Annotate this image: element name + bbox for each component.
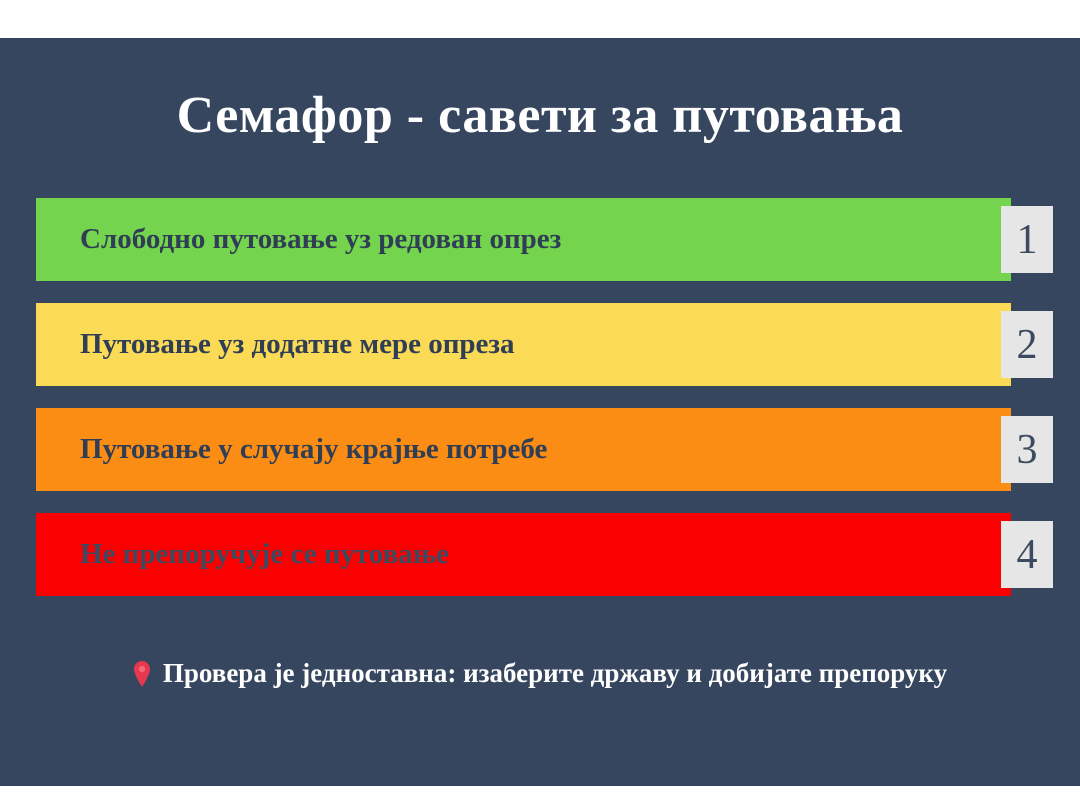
legend-number-badge-3: 3 xyxy=(1001,416,1053,483)
legend-bar-label: Путовање у случају крајње потребе xyxy=(36,433,547,466)
legend-bar-level-4: Не препоручује се путовање xyxy=(36,513,1011,596)
legend-row: Слободно путовање уз редован опрез 1 xyxy=(0,198,1080,281)
footer-text: Провера је једноставна: изаберите државу… xyxy=(163,658,947,689)
legend-bar-label: Путовање уз додатне мере опреза xyxy=(36,328,515,361)
legend-bar-label: Слободно путовање уз редован опрез xyxy=(36,223,561,256)
legend-bar-level-3: Путовање у случају крајње потребе xyxy=(36,408,1011,491)
slide-canvas: Семафор - савети за путовања Слободно пу… xyxy=(0,38,1080,786)
legend-number-badge-1: 1 xyxy=(1001,206,1053,273)
map-pin-icon xyxy=(133,661,151,687)
legend-row: Путовање у случају крајње потребе 3 xyxy=(0,408,1080,491)
legend-row: Не препоручује се путовање 4 xyxy=(0,513,1080,596)
legend-number-badge-2: 2 xyxy=(1001,311,1053,378)
legend-bar-level-1: Слободно путовање уз редован опрез xyxy=(36,198,1011,281)
legend-row: Путовање уз додатне мере опреза 2 xyxy=(0,303,1080,386)
page-title: Семафор - савети за путовања xyxy=(0,86,1080,145)
legend-bar-level-2: Путовање уз додатне мере опреза xyxy=(36,303,1011,386)
footer-note: Провера је једноставна: изаберите државу… xyxy=(0,658,1080,689)
traffic-light-legend: Слободно путовање уз редован опрез 1 Пут… xyxy=(0,198,1080,618)
legend-bar-label: Не препоручује се путовање xyxy=(36,538,449,571)
legend-number-badge-4: 4 xyxy=(1001,521,1053,588)
